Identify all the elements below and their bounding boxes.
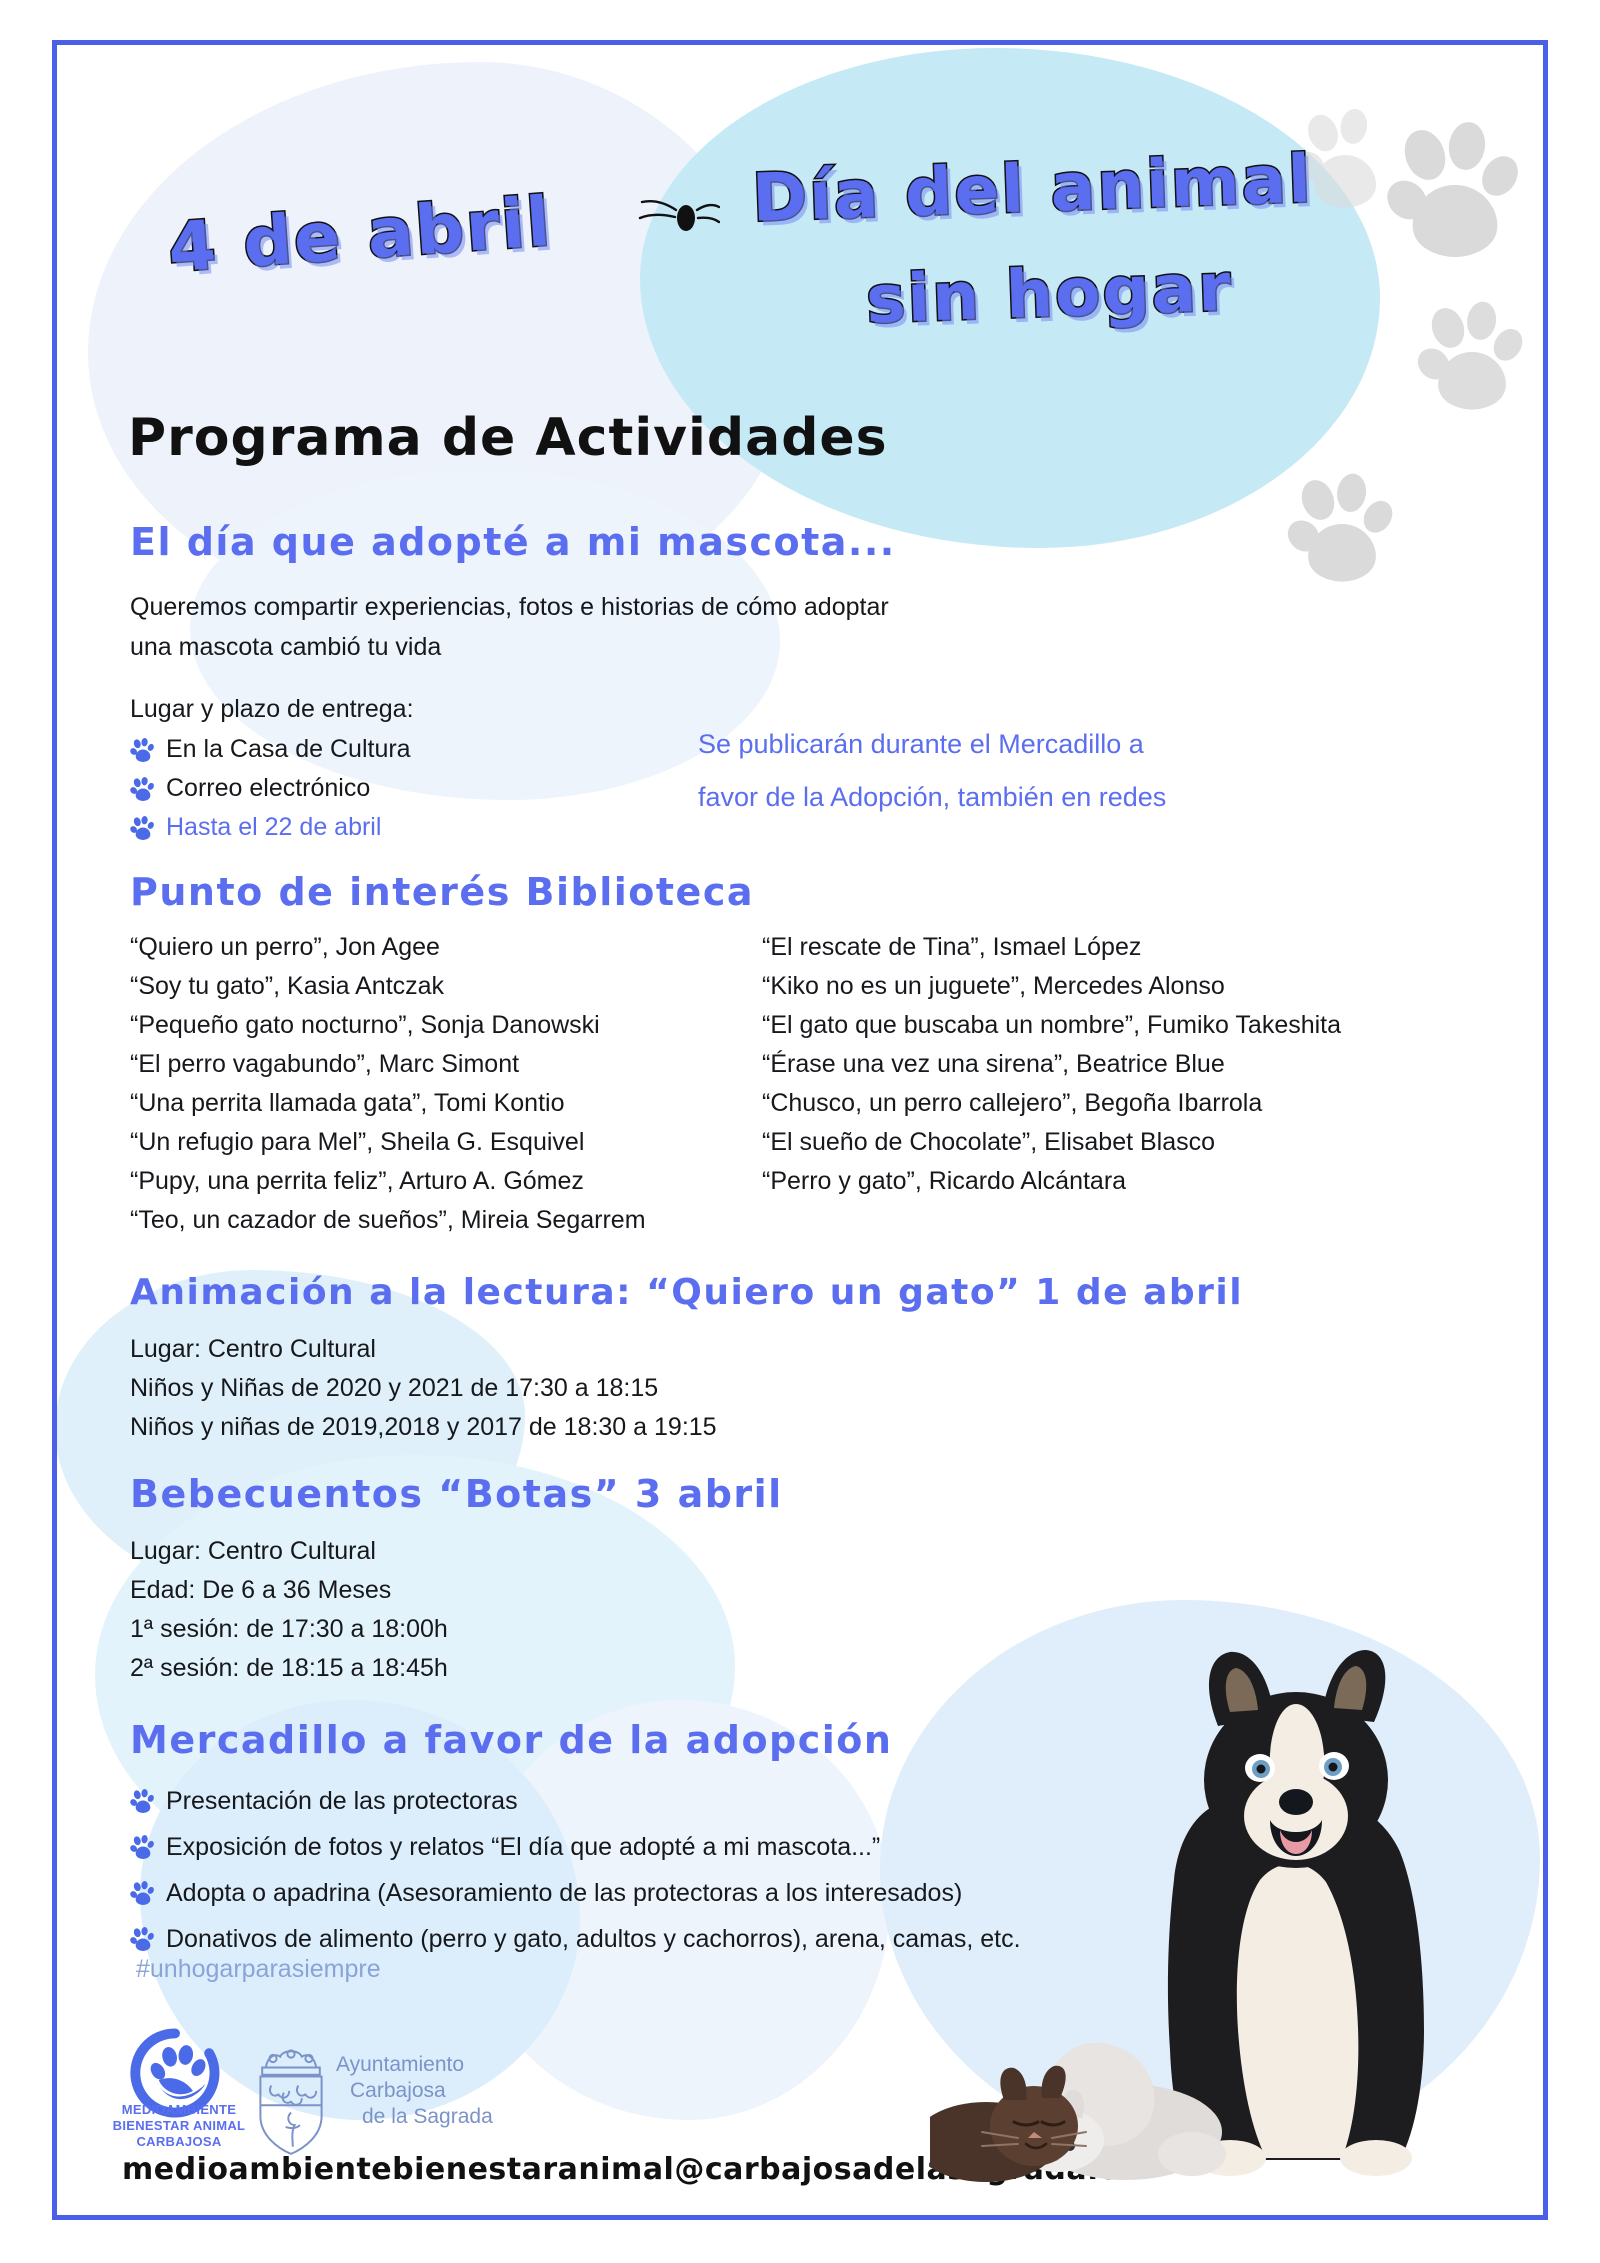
cat-whiskers-icon [630,188,720,258]
paw-print-icon [1412,292,1532,412]
list-item: Presentación de las protectoras [130,1778,1021,1824]
list-item: En la Casa de Cultura [130,730,411,769]
section-title-adopt: El día que adopté a mi mascota... [130,520,896,564]
list-item: “Soy tu gato”, Kasia Antczak [130,967,646,1006]
paw-print-icon [1380,110,1530,260]
ayuntamiento-logo-text: Ayuntamiento Carbajosa de la Sagrada [336,2052,493,2130]
list-item: “Pupy, una perrita feliz”, Arturo A. Góm… [130,1162,646,1201]
detail-line: Niños y niñas de 2019,2018 y 2017 de 18:… [130,1408,717,1447]
list-item: “El gato que buscaba un nombre”, Fumiko … [762,1006,1341,1045]
paw-bullet-icon [130,1834,156,1860]
list-item-deadline: Hasta el 22 de abril [130,808,411,847]
library-books-right: “El rescate de Tina”, Ismael López “Kiko… [762,928,1341,1201]
list-item-label: Adopta o apadrina (Asesoramiento de las … [166,1874,962,1913]
adopt-delivery-list: En la Casa de Cultura Correo electrónico [130,730,411,847]
adopt-note-line1: Se publicarán durante el Mercadillo a [698,725,1144,764]
headline-main-line2: sin hogar [865,249,1234,339]
list-item: Correo electrónico [130,769,411,808]
list-item-label: Correo electrónico [166,769,370,808]
list-item: “El perro vagabundo”, Marc Simont [130,1045,646,1084]
adopt-deadline: Hasta el 22 de abril [166,808,381,847]
section-title-bebecuentos: Bebecuentos “Botas” 3 abril [130,1472,783,1516]
paw-bullet-icon [130,1788,156,1814]
dog-and-kittens-illustration [930,1630,1510,2190]
list-item: “Kiko no es un juguete”, Mercedes Alonso [762,967,1341,1006]
logo-line-3: CARBAJOSA [104,2134,254,2150]
paw-bullet-icon [130,1926,156,1952]
list-item: “Una perrita llamada gata”, Tomi Kontio [130,1084,646,1123]
list-item-label: Presentación de las protectoras [166,1782,518,1821]
paw-bullet-icon [130,737,156,763]
logo-line-2: Carbajosa [336,2078,493,2104]
logo-line-3: de la Sagrada [336,2104,493,2130]
list-item: “Quiero un perro”, Jon Agee [130,928,646,967]
library-books-left: “Quiero un perro”, Jon Agee “Soy tu gato… [130,928,646,1240]
paw-bullet-icon [130,815,156,841]
bebecuentos-details: Lugar: Centro Cultural Edad: De 6 a 36 M… [130,1532,448,1688]
adopt-intro-line1: Queremos compartir experiencias, fotos e… [130,588,889,627]
poster-canvas: 4 de abril Día del animal sin hogar Prog… [0,0,1600,2263]
detail-line: Edad: De 6 a 36 Meses [130,1571,448,1610]
section-title-library: Punto de interés Biblioteca [130,870,754,914]
detail-line: Niños y Niñas de 2020 y 2021 de 17:30 a … [130,1369,717,1408]
list-item: Adopta o apadrina (Asesoramiento de las … [130,1870,1021,1916]
adopt-delivery-label: Lugar y plazo de entrega: [130,690,414,729]
logo-line-2: BIENESTAR ANIMAL [104,2118,254,2134]
ayuntamiento-crest-icon [246,2040,336,2158]
list-item-label: En la Casa de Cultura [166,730,411,769]
list-item: “Un refugio para Mel”, Sheila G. Esquive… [130,1123,646,1162]
page-title: Programa de Actividades [128,408,888,468]
section-title-animacion: Animación a la lectura: “Quiero un gato”… [130,1272,1243,1313]
hashtag: #unhogarparasiempre [136,1955,381,1984]
adopt-note-line2: favor de la Adopción, también en redes [698,778,1166,817]
section-title-mercadillo: Mercadillo a favor de la adopción [130,1718,892,1762]
list-item: “Érase una vez una sirena”, Beatrice Blu… [762,1045,1341,1084]
list-item-label: Donativos de alimento (perro y gato, adu… [166,1920,1021,1959]
detail-line: Lugar: Centro Cultural [130,1330,717,1369]
list-item: “Pequeño gato nocturno”, Sonja Danowski [130,1006,646,1045]
detail-line: 2ª sesión: de 18:15 a 18:45h [130,1649,448,1688]
list-item: “Teo, un cazador de sueños”, Mireia Sega… [130,1201,646,1240]
logo-line-1: Ayuntamiento [336,2052,493,2078]
list-item: Exposición de fotos y relatos “El día qu… [130,1824,1021,1870]
paw-print-icon [1282,464,1402,584]
detail-line: Lugar: Centro Cultural [130,1532,448,1571]
list-item: “El sueño de Chocolate”, Elisabet Blasco [762,1123,1341,1162]
list-item: “El rescate de Tina”, Ismael López [762,928,1341,967]
mercadillo-list: Presentación de las protectoras Exposici… [130,1778,1021,1962]
paw-bullet-icon [130,1880,156,1906]
list-item: “Chusco, un perro callejero”, Begoña Iba… [762,1084,1341,1123]
paw-bullet-icon [130,776,156,802]
dog-illustration [1168,1650,1424,2176]
medioambiente-logo-text: MEDIOAMBIENTE BIENESTAR ANIMAL CARBAJOSA [104,2102,254,2150]
logo-line-1: MEDIOAMBIENTE [104,2102,254,2118]
detail-line: 1ª sesión: de 17:30 a 18:00h [130,1610,448,1649]
list-item: “Perro y gato”, Ricardo Alcántara [762,1162,1341,1201]
animacion-details: Lugar: Centro Cultural Niños y Niñas de … [130,1330,717,1447]
adopt-intro-line2: una mascota cambió tu vida [130,628,441,667]
list-item-label: Exposición de fotos y relatos “El día qu… [166,1828,880,1867]
